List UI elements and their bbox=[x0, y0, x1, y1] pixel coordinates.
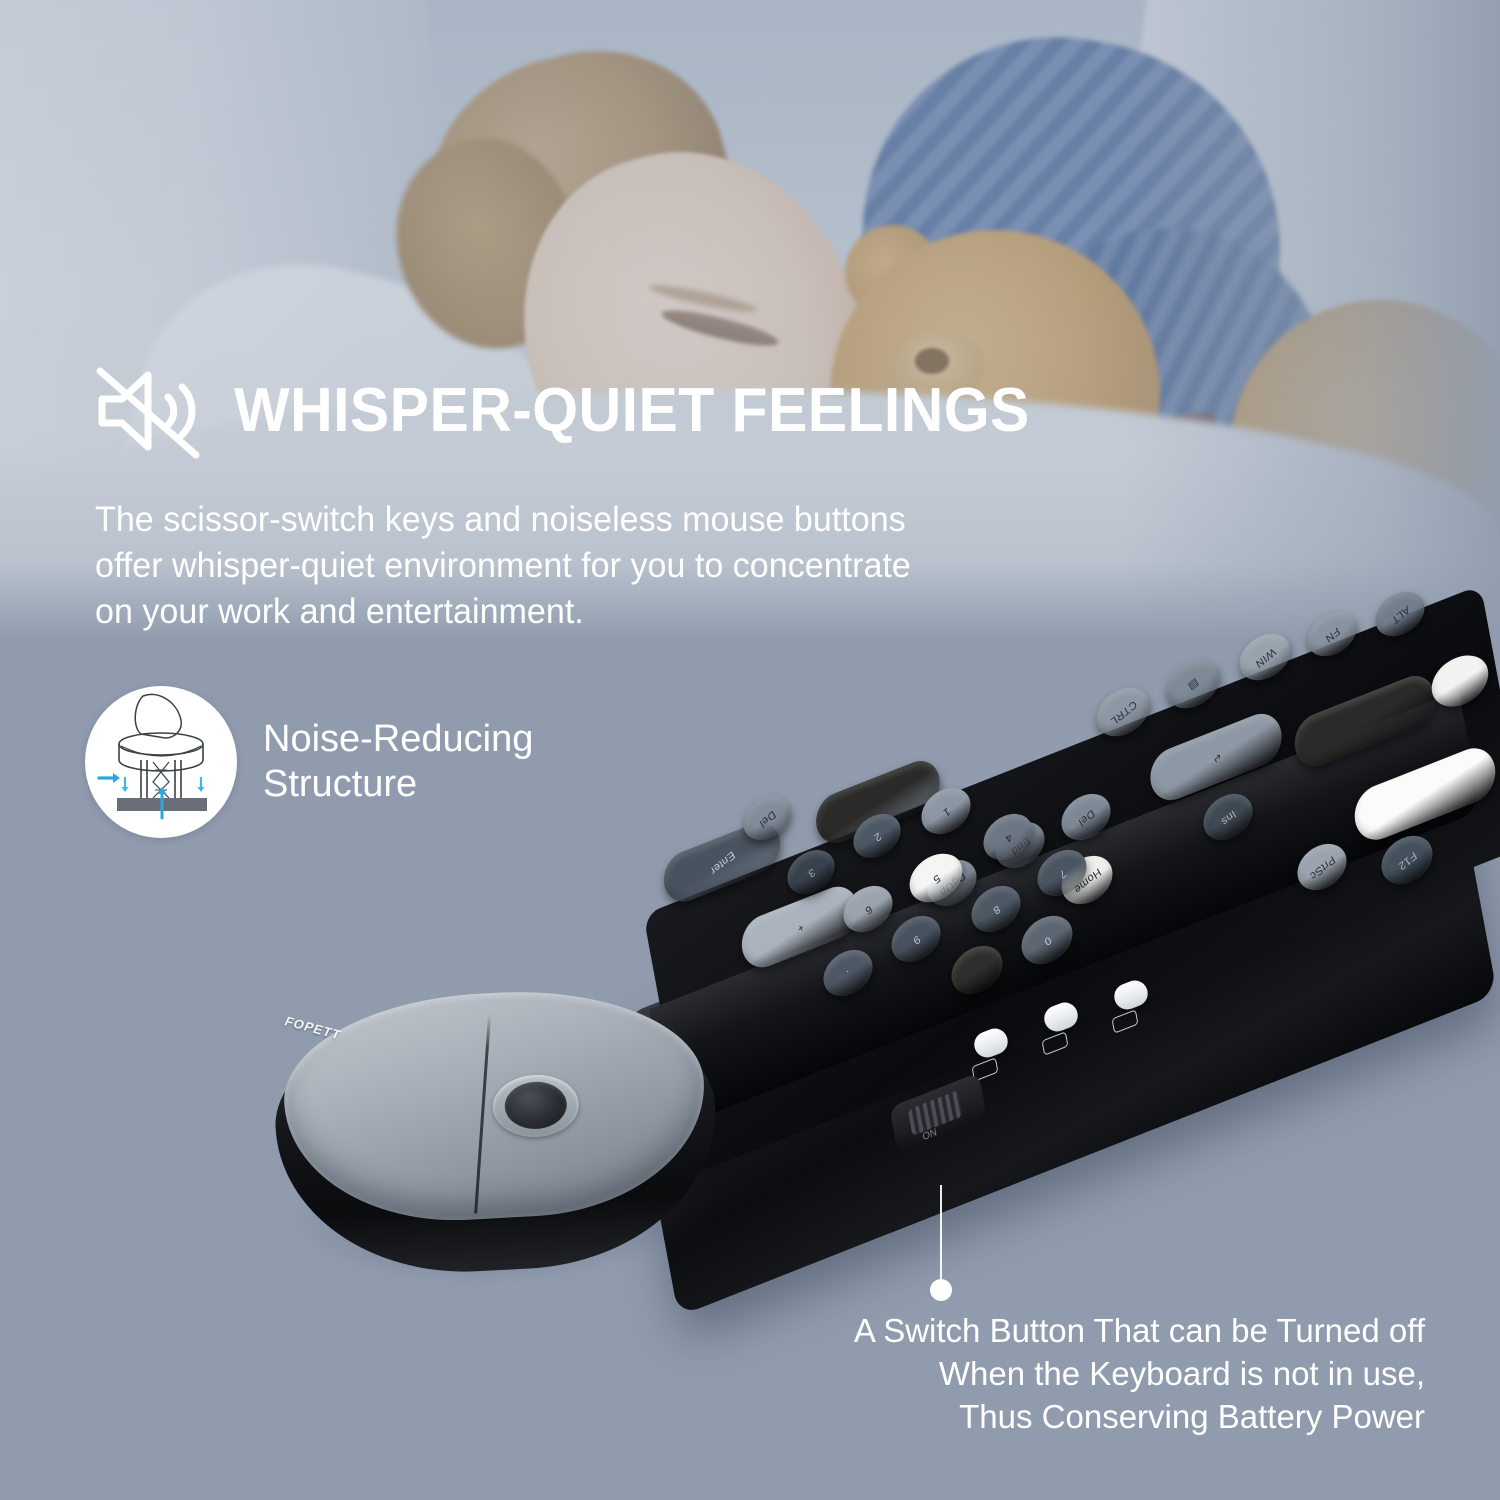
wireless-keyboard: CTRL▤WINFNALT↵DelEndHomePgUpInsPrtScF12E… bbox=[590, 600, 1500, 1220]
page-title: WHISPER-QUIET FEELINGS bbox=[234, 380, 1030, 442]
product-feature-banner: WHISPER-QUIET FEELINGS The scissor-switc… bbox=[0, 0, 1500, 1500]
badge-label-line-2: Structure bbox=[263, 762, 533, 807]
caption-line-2: When the Keyboard is not in use, bbox=[645, 1353, 1425, 1396]
headline-row: WHISPER-QUIET FEELINGS bbox=[92, 363, 1072, 459]
body-line-1: The scissor-switch keys and noiseless mo… bbox=[95, 496, 1132, 542]
feature-badge-label: Noise-Reducing Structure bbox=[263, 717, 533, 807]
keycap-del[interactable]: Del bbox=[740, 789, 794, 847]
keycap-label: Del bbox=[744, 796, 790, 839]
caption-line-3: Thus Conserving Battery Power bbox=[645, 1396, 1425, 1439]
feature-badge: Noise-Reducing Structure bbox=[85, 686, 533, 838]
wireless-mouse: FOPETT bbox=[265, 973, 730, 1286]
callout-leader-line bbox=[940, 1185, 942, 1285]
brand-logo: FOPETT bbox=[282, 1014, 344, 1043]
body-line-2: offer whisper-quiet environment for you … bbox=[95, 542, 1132, 588]
caption-line-1: A Switch Button That can be Turned off bbox=[645, 1310, 1425, 1353]
badge-label-line-1: Noise-Reducing bbox=[263, 717, 533, 762]
mute-speaker-icon bbox=[92, 363, 212, 459]
callout-caption: A Switch Button That can be Turned off W… bbox=[645, 1310, 1425, 1439]
callout-dot bbox=[930, 1279, 952, 1301]
scissor-switch-diagram-icon bbox=[85, 686, 237, 838]
